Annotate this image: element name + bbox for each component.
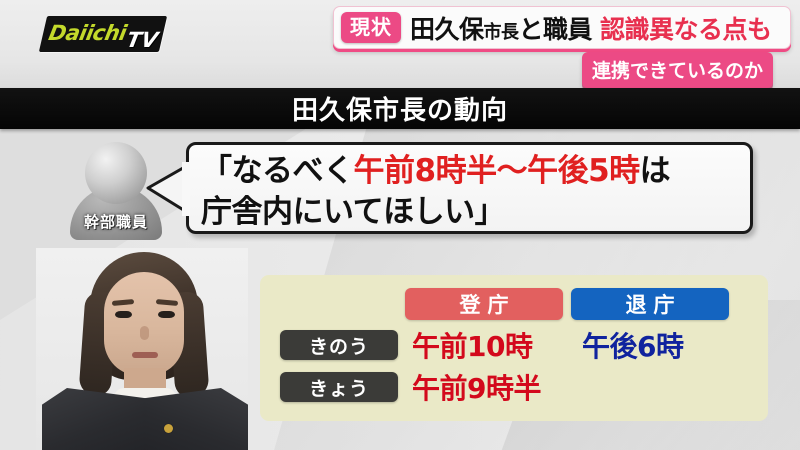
cell-today-arrival: 午前9時半 [412, 367, 541, 407]
headline-main-part1: 田久保 [410, 15, 484, 44]
speech-bubble: 「なるべく午前8時半〜午後5時は 庁舎内にいてほしい」 [186, 142, 753, 234]
quote-line-2: 庁舎内にいてほしい」 [201, 192, 740, 233]
photo-jacket-right [144, 388, 248, 450]
photo-face [104, 272, 184, 376]
logo-text-tv: TV [125, 28, 160, 52]
headline-main-part2: と職員 [519, 15, 593, 44]
cell-yesterday-departure: 午後6時 [582, 325, 683, 365]
photo-nose [140, 326, 149, 340]
mayor-photo [36, 248, 248, 450]
quote-line1-pre: 「なるべく [201, 153, 354, 189]
cell-yesterday-arrival: 午前10時 [412, 325, 532, 365]
quote-line-1: 「なるべく午前8時半〜午後5時は [201, 151, 740, 192]
speech-bubble-tail [144, 160, 190, 218]
quote-line1-highlight: 午前8時半〜午後5時 [354, 153, 640, 189]
headline-banner: 現状 田久保市長と職員 認識異なる点も [333, 6, 791, 49]
photo-eye-right [158, 311, 175, 318]
photo-lapel-pin [164, 424, 173, 433]
photo-mouth [132, 352, 158, 358]
station-logo: Daiichi TV [43, 16, 163, 52]
column-header-departure: 退庁 [571, 288, 729, 320]
row-label-yesterday: きのう [280, 330, 398, 360]
avatar-head-shape [85, 142, 147, 204]
column-header-arrival: 登庁 [405, 288, 563, 320]
logo-text-daiichi: Daiichi [47, 21, 129, 45]
section-title-bar: 田久保市長の動向 [0, 88, 800, 129]
headline-main-small: 市長 [484, 22, 519, 43]
quote-line1-post: は [640, 153, 671, 189]
row-label-today: きょう [280, 372, 398, 402]
headline-subline: 連携できているのか [582, 52, 773, 88]
photo-jacket-left [42, 388, 146, 450]
broadcast-screen: Daiichi TV 現状 田久保市長と職員 認識異なる点も 連携できているのか… [0, 0, 800, 450]
headline-accent-text: 認識異なる点も [600, 10, 772, 46]
photo-eye-left [115, 311, 132, 318]
headline-main-text: 田久保市長と職員 [410, 10, 592, 46]
headline-badge: 現状 [341, 12, 401, 43]
schedule-panel: 登庁 退庁 きのう きょう 午前10時 午後6時 午前9時半 [260, 275, 768, 421]
section-title-text: 田久保市長の動向 [292, 90, 508, 127]
